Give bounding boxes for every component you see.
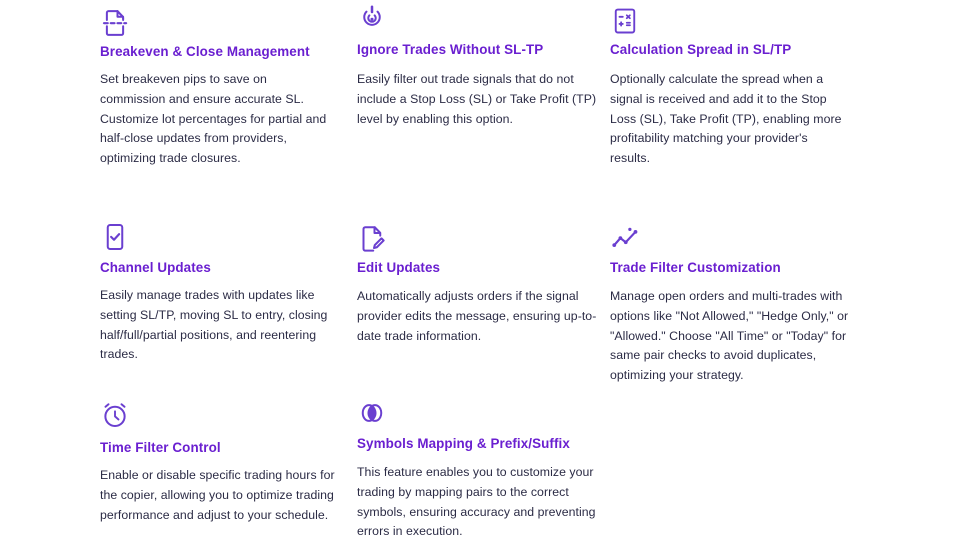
venn-circles-icon (357, 398, 387, 428)
mobile-check-icon (100, 222, 130, 252)
feature-title: Breakeven & Close Management (100, 44, 335, 61)
feature-card-ignore-trades-without-sl-tp: Ignore Trades Without SL-TP Easily filte… (357, 4, 597, 129)
feature-body: Easily filter out trade signals that do … (357, 70, 597, 130)
feature-title: Time Filter Control (100, 440, 335, 457)
power-button-icon (357, 4, 387, 34)
document-edit-icon (357, 224, 387, 254)
feature-card-calculation-spread-in-sl-tp: Calculation Spread in SL/TP Optionally c… (610, 6, 850, 169)
feature-card-edit-updates: Edit Updates Automatically adjusts order… (357, 224, 597, 346)
feature-body: Enable or disable specific trading hours… (100, 466, 335, 526)
feature-title: Symbols Mapping & Prefix/Suffix (357, 436, 597, 453)
feature-card-trade-filter-customization: Trade Filter Customization Manage open o… (610, 224, 850, 386)
line-chart-icon (610, 224, 640, 254)
feature-body: Manage open orders and multi-trades with… (610, 287, 850, 387)
feature-body: Automatically adjusts orders if the sign… (357, 287, 597, 347)
feature-card-time-filter-control: Time Filter Control Enable or disable sp… (100, 400, 335, 525)
feature-title: Trade Filter Customization (610, 260, 850, 277)
alarm-clock-icon (100, 400, 130, 430)
feature-card-symbols-mapping-prefix-suffix: Symbols Mapping & Prefix/Suffix This fea… (357, 398, 597, 542)
feature-title: Calculation Spread in SL/TP (610, 42, 850, 59)
feature-body: Easily manage trades with updates like s… (100, 286, 335, 366)
feature-body: Optionally calculate the spread when a s… (610, 70, 850, 170)
feature-body: This feature enables you to customize yo… (357, 463, 597, 542)
split-document-icon (100, 8, 130, 38)
calculator-icon (610, 6, 640, 36)
feature-title: Channel Updates (100, 260, 335, 277)
features-grid: Breakeven & Close Management Set breakev… (0, 0, 960, 540)
feature-body: Set breakeven pips to save on commission… (100, 70, 335, 170)
feature-title: Ignore Trades Without SL-TP (357, 42, 597, 59)
feature-title: Edit Updates (357, 260, 597, 277)
feature-card-breakeven-close-management: Breakeven & Close Management Set breakev… (100, 8, 335, 169)
feature-card-channel-updates: Channel Updates Easily manage trades wit… (100, 222, 335, 365)
